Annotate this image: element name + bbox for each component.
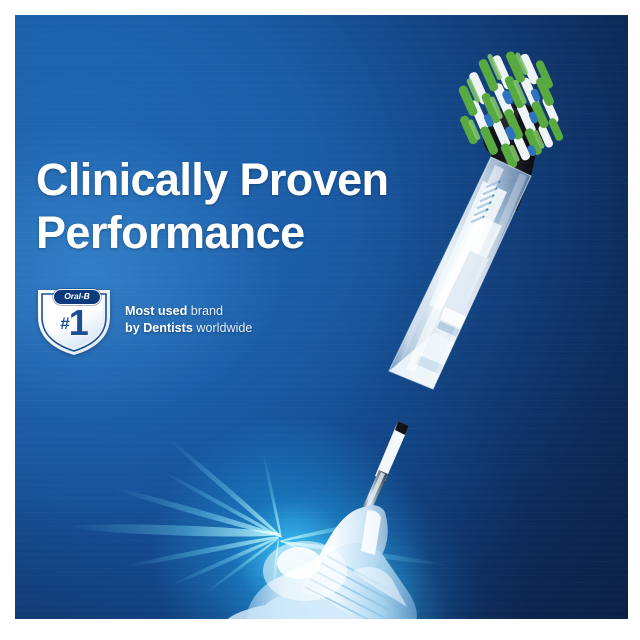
number-one-badge: Oral-B #1 Most used brand by Dentists wo… bbox=[33, 283, 293, 358]
bottom-white-strip bbox=[15, 619, 628, 628]
headline: Clinically Proven Performance bbox=[36, 154, 456, 259]
claim-line-1-light: brand bbox=[191, 304, 223, 318]
claim-line-2-light: worldwide bbox=[196, 321, 252, 335]
brush-head-body bbox=[473, 94, 556, 211]
brush-bristles bbox=[440, 35, 578, 180]
rank-number-one: #1 bbox=[33, 305, 115, 341]
oralb-logo-text: Oral-B bbox=[64, 292, 89, 301]
glow-core bbox=[205, 465, 505, 628]
claim-line-1-bold: Most used bbox=[125, 304, 187, 318]
claim-line-1: Most used brand bbox=[125, 303, 310, 320]
blue-gradient-background: Clinically Proven Performance bbox=[15, 15, 628, 628]
product-image-canvas: Clinically Proven Performance bbox=[0, 0, 640, 640]
headline-line-1: Clinically Proven bbox=[36, 154, 388, 205]
hash-symbol: # bbox=[60, 314, 68, 333]
claim-line-2-bold: by Dentists bbox=[125, 321, 193, 335]
headline-line-2: Performance bbox=[36, 207, 456, 260]
claim-line-2: by Dentists worldwide bbox=[125, 320, 310, 337]
rank-digit: 1 bbox=[69, 302, 88, 343]
badge-claim-text: Most used brand by Dentists worldwide bbox=[125, 303, 310, 336]
